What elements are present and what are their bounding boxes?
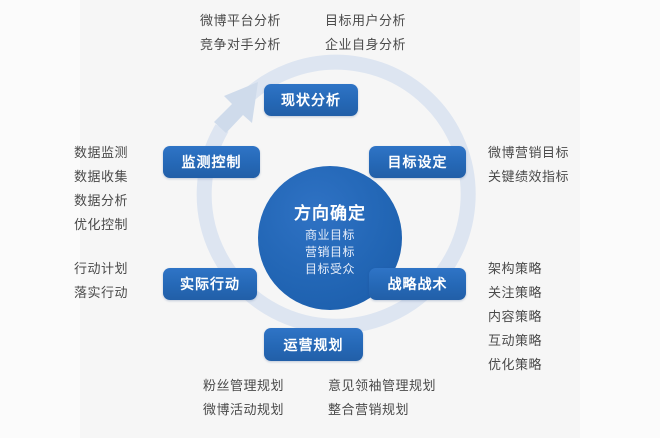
annotation-text: 微博平台分析: [200, 10, 281, 34]
annotation-text: 数据收集: [74, 166, 128, 190]
annotation-bottom-right: 意见领袖管理规划 整合营销规划: [328, 375, 436, 423]
core-title: 方向确定: [294, 203, 366, 225]
annotation-text: 整合营销规划: [328, 399, 436, 423]
annotation-right-upper: 微博营销目标 关键绩效指标: [488, 142, 569, 190]
annotation-text: 架构策略: [488, 258, 542, 282]
annotation-right-lower: 架构策略 关注策略 内容策略 互动策略 优化策略: [488, 258, 542, 378]
node-monitor-control[interactable]: 监测控制: [163, 146, 260, 178]
annotation-text: 数据监测: [74, 142, 128, 166]
annotation-text: 落实行动: [74, 282, 128, 306]
annotation-text: 意见领袖管理规划: [328, 375, 436, 399]
core-line-2: 营销目标: [305, 244, 355, 261]
annotation-text: 企业自身分析: [325, 34, 406, 58]
annotation-text: 数据分析: [74, 190, 128, 214]
annotation-text: 互动策略: [488, 330, 542, 354]
annotation-text: 关注策略: [488, 282, 542, 306]
node-current-analysis[interactable]: 现状分析: [264, 84, 358, 116]
core-line-1: 商业目标: [305, 227, 355, 244]
annotation-text: 竞争对手分析: [200, 34, 281, 58]
annotation-text: 内容策略: [488, 306, 542, 330]
node-goal-setting[interactable]: 目标设定: [369, 146, 466, 178]
annotation-text: 微博营销目标: [488, 142, 569, 166]
node-operation-plan[interactable]: 运营规划: [264, 328, 363, 361]
annotation-text: 粉丝管理规划: [203, 375, 284, 399]
node-strategy-tactics[interactable]: 战略战术: [369, 268, 466, 300]
annotation-text: 行动计划: [74, 258, 128, 282]
annotation-text: 优化控制: [74, 214, 128, 238]
annotation-text: 优化策略: [488, 354, 542, 378]
node-actual-action[interactable]: 实际行动: [163, 268, 257, 300]
annotation-left-lower: 行动计划 落实行动: [74, 258, 128, 306]
annotation-text: 微博活动规划: [203, 399, 284, 423]
diagram-canvas: 方向确定 商业目标 营销目标 目标受众 现状分析 目标设定 战略战术 运营规划 …: [0, 0, 660, 438]
core-line-3: 目标受众: [305, 261, 355, 278]
annotation-top-left: 微博平台分析 竞争对手分析: [200, 10, 281, 58]
ring-arrowhead: [214, 82, 258, 133]
annotation-top-right: 目标用户分析 企业自身分析: [325, 10, 406, 58]
annotation-bottom-left: 粉丝管理规划 微博活动规划: [203, 375, 284, 423]
annotation-left-upper: 数据监测 数据收集 数据分析 优化控制: [74, 142, 128, 238]
annotation-text: 目标用户分析: [325, 10, 406, 34]
annotation-text: 关键绩效指标: [488, 166, 569, 190]
